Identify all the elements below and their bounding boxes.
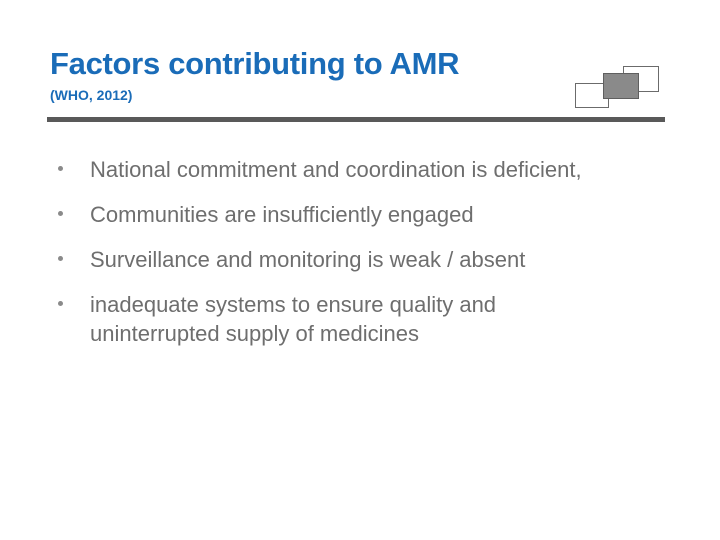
bullet-dot-icon: [50, 155, 90, 171]
list-item: inadequate systems to ensure quality and…: [50, 290, 670, 348]
list-item: Surveillance and monitoring is weak / ab…: [50, 245, 670, 274]
bullet-dot-icon: [50, 245, 90, 261]
title-divider-rule: [47, 117, 665, 122]
title-source-citation: (WHO, 2012): [50, 87, 570, 103]
list-item-text: National commitment and coordination is …: [90, 155, 630, 184]
page-title: Factors contributing to AMR: [50, 46, 570, 82]
list-item-text: inadequate systems to ensure quality and…: [90, 290, 630, 348]
bullet-list: National commitment and coordination is …: [50, 155, 670, 348]
list-item: National commitment and coordination is …: [50, 155, 670, 184]
bullet-dot-icon: [50, 290, 90, 306]
square-middle-filled-icon: [603, 73, 639, 99]
list-item: Communities are insufficiently engaged: [50, 200, 670, 229]
title-block: Factors contributing to AMR (WHO, 2012): [50, 46, 570, 103]
decorative-squares-graphic: [570, 64, 670, 110]
list-item-text: Surveillance and monitoring is weak / ab…: [90, 245, 630, 274]
slide-canvas: Factors contributing to AMR (WHO, 2012) …: [0, 0, 720, 540]
bullet-dot-icon: [50, 200, 90, 216]
list-item-text: Communities are insufficiently engaged: [90, 200, 630, 229]
